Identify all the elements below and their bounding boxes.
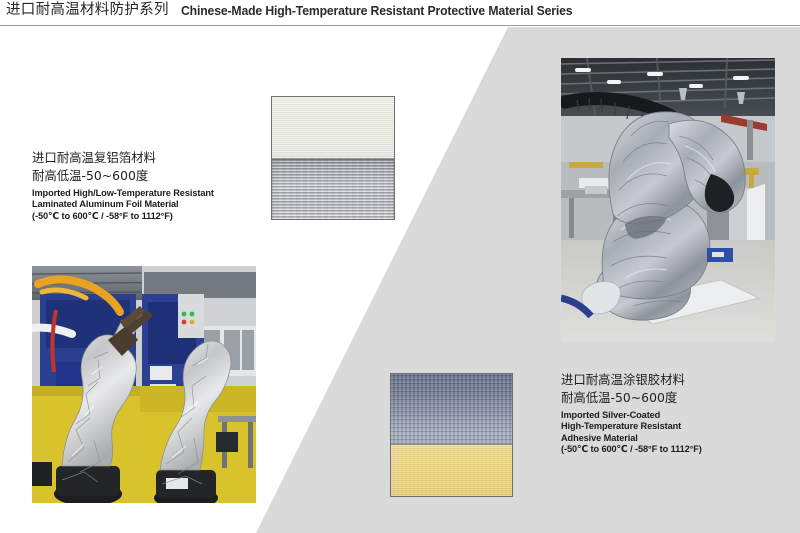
product-description-english-adhesive: Imported Silver-Coated High-Temperature … xyxy=(561,410,702,456)
adhesive-swatch-fabric-layer xyxy=(391,444,512,497)
foil-swatch-metal-layer xyxy=(272,158,394,219)
foil-swatch-cream-layer xyxy=(272,97,394,158)
adhesive-en-line1: Imported Silver-Coated xyxy=(561,410,702,421)
caption-aluminum-foil: 进口耐高温复铝箔材料 耐高低温-50~600度 Imported High/Lo… xyxy=(32,149,221,222)
product-description-english-foil: Imported High/Low-Temperature Resistant … xyxy=(32,188,214,222)
catalog-page: 进口耐高温材料防护系列 Chinese-Made High-Temperatur… xyxy=(0,0,800,533)
page-header: 进口耐高温材料防护系列 Chinese-Made High-Temperatur… xyxy=(0,0,800,27)
product-name-chinese-adhesive: 进口耐高温涂银胶材料 xyxy=(561,371,708,389)
product-name-chinese-foil: 进口耐高温复铝箔材料 xyxy=(32,149,221,167)
adhesive-temp-range: (-50℃ to 600℃ / -58°F to 1112°F) xyxy=(561,444,702,455)
aluminum-foil-swatch xyxy=(271,96,395,220)
foil-en-line2: Laminated Aluminum Foil Material xyxy=(32,199,214,210)
foil-temp-range: (-50℃ to 600℃ / -58°F to 1112°F) xyxy=(32,211,214,222)
gray-covered-robot-photo xyxy=(561,58,775,342)
gray-robot-illustration xyxy=(561,58,775,342)
foil-wrapped-robots-photo xyxy=(32,266,256,503)
adhesive-en-line3: Adhesive Material xyxy=(561,433,702,444)
adhesive-swatch-silver-layer xyxy=(391,374,512,444)
silver-adhesive-swatch xyxy=(390,373,513,497)
page-title-english: Chinese-Made High-Temperature Resistant … xyxy=(181,2,572,20)
page-title-chinese: 进口耐高温材料防护系列 xyxy=(6,1,169,20)
foil-en-line1: Imported High/Low-Temperature Resistant xyxy=(32,188,214,199)
adhesive-en-line2: High-Temperature Resistant xyxy=(561,421,702,432)
product-spec-chinese-adhesive: 耐高低温-50~600度 xyxy=(561,389,708,407)
header-divider xyxy=(0,25,800,26)
product-spec-chinese-foil: 耐高低温-50~600度 xyxy=(32,167,221,185)
foil-robots-illustration xyxy=(32,266,256,503)
caption-silver-adhesive: 进口耐高温涂银胶材料 耐高低温-50~600度 Imported Silver-… xyxy=(561,371,708,456)
